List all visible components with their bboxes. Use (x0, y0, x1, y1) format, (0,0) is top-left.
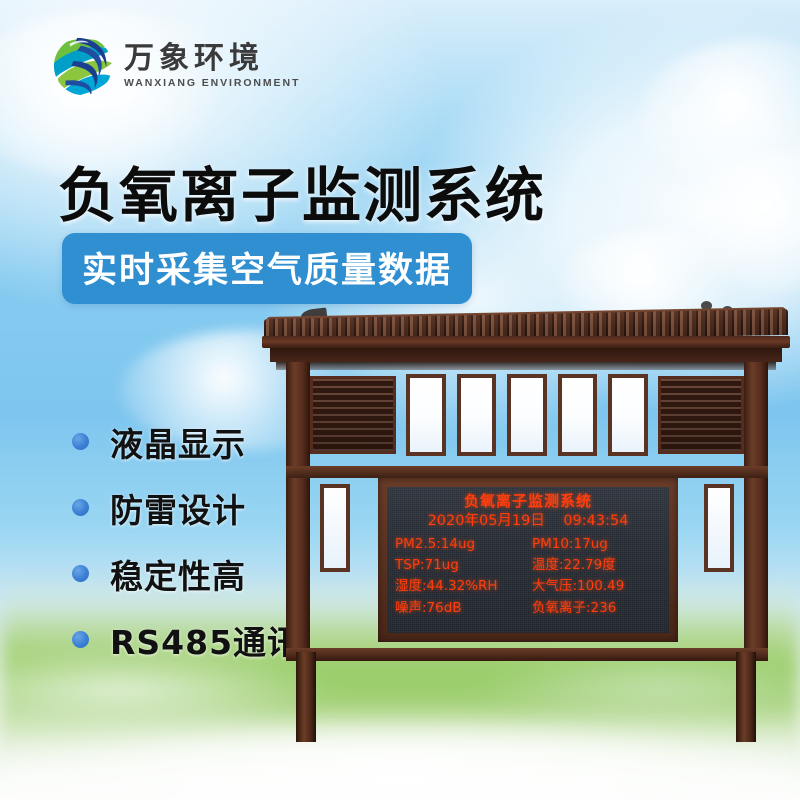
mid-rail (286, 466, 768, 478)
led-title: 负氧离子监测系统 (395, 492, 661, 511)
cloud-decoration (690, 150, 800, 290)
brand-name-cn: 万象环境 (124, 43, 300, 75)
table-row: 噪声:76dB 负氧离子:236 (395, 598, 661, 619)
window-pane (507, 374, 547, 456)
reading-tsp: TSP:71ug (395, 555, 528, 576)
window-row (406, 374, 648, 456)
table-row: 湿度:44.32%RH 大气压:100.49 (395, 576, 661, 597)
window-pane (608, 374, 648, 456)
promo-poster: 万象环境 WANXIANG ENVIRONMENT 负氧离子监测系统 实时采集空… (0, 0, 800, 800)
monitoring-station: 负氧离子监测系统 2020年05月19日 09:43:54 PM2.5:14ug… (262, 300, 790, 740)
brand-text: 万象环境 WANXIANG ENVIRONMENT (124, 43, 300, 90)
page-title: 负氧离子监测系统 (58, 148, 546, 233)
feature-label: 稳定性高 (110, 550, 246, 598)
led-datetime: 2020年05月19日 09:43:54 (395, 511, 661, 532)
table-row: TSP:71ug 温度:22.79度 (395, 555, 661, 576)
window-pane (406, 374, 446, 456)
led-time: 09:43:54 (563, 513, 628, 529)
led-readings: PM2.5:14ug PM10:17ug TSP:71ug 温度:22.79度 … (395, 534, 661, 619)
reading-noise: 噪声:76dB (395, 598, 528, 619)
bullet-dot-icon (72, 631, 89, 648)
reading-pm25: PM2.5:14ug (395, 534, 528, 555)
roof-eave (262, 336, 790, 348)
upper-band (310, 362, 744, 470)
louver-vent-left (310, 376, 396, 454)
support-leg-left (296, 652, 316, 742)
station-body: 负氧离子监测系统 2020年05月19日 09:43:54 PM2.5:14ug… (286, 362, 768, 652)
globe-swirl-icon (52, 34, 114, 98)
support-leg-right (736, 652, 756, 742)
reading-negative-ions: 负氧离子:236 (528, 598, 665, 619)
feature-label: 液晶显示 (110, 418, 246, 466)
bullet-dot-icon (72, 433, 89, 450)
side-window-right (704, 484, 734, 572)
post-left (286, 362, 310, 652)
reading-humidity: 湿度:44.32%RH (395, 576, 528, 597)
brand-name-en: WANXIANG ENVIRONMENT (124, 77, 300, 89)
led-display-panel: 负氧离子监测系统 2020年05月19日 09:43:54 PM2.5:14ug… (387, 487, 669, 633)
reading-pm10: PM10:17ug (528, 534, 665, 555)
reading-temperature: 温度:22.79度 (528, 555, 665, 576)
window-pane (457, 374, 497, 456)
bullet-dot-icon (72, 565, 89, 582)
side-window-left (320, 484, 350, 572)
lower-rail (286, 648, 768, 661)
led-date: 2020年05月19日 (428, 513, 545, 529)
cloud-decoration (640, 40, 800, 190)
table-row: PM2.5:14ug PM10:17ug (395, 534, 661, 555)
louver-vent-right (658, 376, 744, 454)
reading-pressure: 大气压:100.49 (528, 576, 665, 597)
feature-label: 防雷设计 (110, 484, 246, 532)
subtitle-badge: 实时采集空气质量数据 (62, 233, 472, 304)
bullet-dot-icon (72, 499, 89, 516)
post-right (744, 362, 768, 652)
window-pane (558, 374, 598, 456)
led-board-frame: 负氧离子监测系统 2020年05月19日 09:43:54 PM2.5:14ug… (378, 478, 678, 642)
roof-underside (270, 348, 782, 362)
brand-logo: 万象环境 WANXIANG ENVIRONMENT (52, 34, 300, 98)
